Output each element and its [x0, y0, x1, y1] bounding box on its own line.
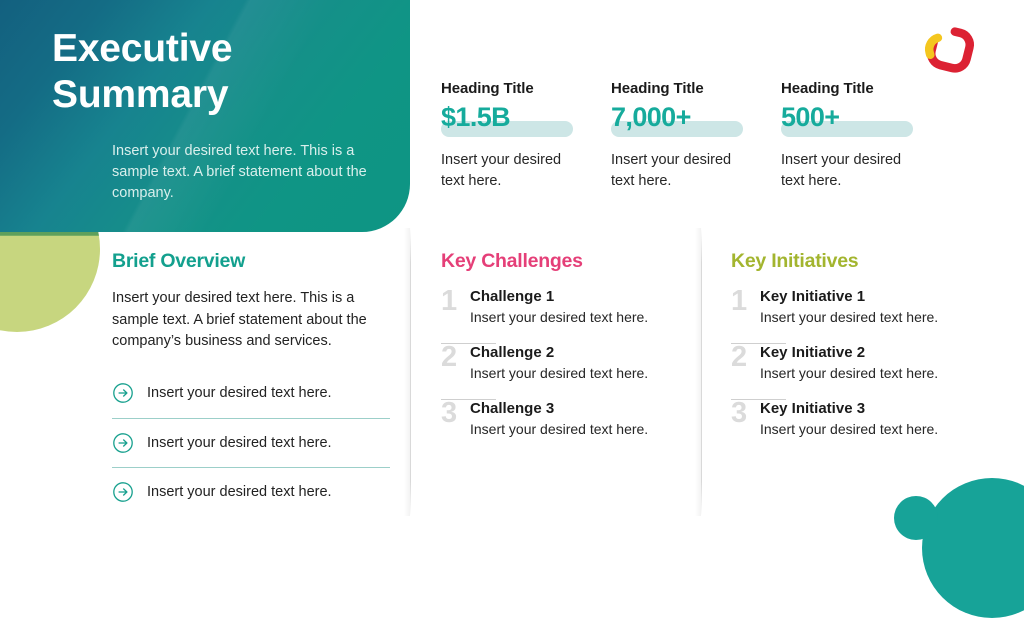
list-item-title: Challenge 3 [470, 400, 648, 418]
list-item-number: 3 [441, 400, 459, 426]
metric-card: Heading Title 7,000+ Insert your desired… [611, 80, 781, 192]
metric-value-wrapper: $1.5B [441, 102, 611, 138]
metric-value: $1.5B [441, 102, 510, 133]
section-key-challenges: Key Challenges 1 Challenge 1 Insert your… [441, 250, 693, 455]
arrow-circle-icon [112, 481, 134, 503]
list-item-number: 2 [441, 344, 459, 370]
metric-card: Heading Title $1.5B Insert your desired … [441, 80, 611, 192]
column-divider [695, 228, 709, 516]
list-item-description: Insert your desired text here. [470, 308, 648, 327]
page-title-line1: Executive [52, 26, 232, 72]
list-item[interactable]: Insert your desired text here. [112, 369, 390, 418]
list-item[interactable]: 3 Key Initiative 3 Insert your desired t… [731, 400, 983, 455]
metric-value-wrapper: 7,000+ [611, 102, 781, 138]
initiatives-list: 1 Key Initiative 1 Insert your desired t… [731, 288, 983, 455]
section-title-overview: Brief Overview [112, 250, 394, 273]
metric-description: Insert your desired text here. [441, 150, 571, 192]
list-item-title: Challenge 1 [470, 288, 648, 306]
arrow-circle-icon [112, 432, 134, 454]
arrow-circle-icon [112, 382, 134, 404]
metric-value: 7,000+ [611, 102, 691, 133]
list-item-description: Insert your desired text here. [760, 364, 938, 383]
list-item[interactable]: 1 Key Initiative 1 Insert your desired t… [731, 288, 983, 343]
page-title: Executive Summary [52, 26, 232, 118]
list-item-title: Challenge 2 [470, 344, 648, 362]
list-item[interactable]: Insert your desired text here. [112, 467, 390, 516]
list-item-title: Key Initiative 2 [760, 344, 938, 362]
list-item[interactable]: Insert your desired text here. [112, 418, 390, 467]
list-item-number: 1 [731, 288, 749, 314]
metric-value-wrapper: 500+ [781, 102, 951, 138]
section-key-initiatives: Key Initiatives 1 Key Initiative 1 Inser… [731, 250, 983, 455]
list-item-description: Insert your desired text here. [760, 420, 938, 439]
list-item-number: 1 [441, 288, 459, 314]
list-item-title: Key Initiative 1 [760, 288, 938, 306]
metric-heading: Heading Title [781, 80, 951, 97]
list-item-label: Insert your desired text here. [147, 435, 332, 451]
page-subtitle: Insert your desired text here. This is a… [112, 141, 384, 204]
brand-logo-icon [921, 22, 979, 80]
metric-description: Insert your desired text here. [611, 150, 741, 192]
challenges-list: 1 Challenge 1 Insert your desired text h… [441, 288, 693, 455]
metrics-row: Heading Title $1.5B Insert your desired … [441, 80, 981, 192]
list-item-title: Key Initiative 3 [760, 400, 938, 418]
metric-heading: Heading Title [441, 80, 611, 97]
list-item-number: 3 [731, 400, 749, 426]
list-item[interactable]: 2 Key Initiative 2 Insert your desired t… [731, 344, 983, 399]
header-panel: Executive Summary Insert your desired te… [0, 0, 410, 232]
list-item-number: 2 [731, 344, 749, 370]
metric-heading: Heading Title [611, 80, 781, 97]
list-item-description: Insert your desired text here. [760, 308, 938, 327]
section-title-initiatives: Key Initiatives [731, 250, 983, 273]
list-item-label: Insert your desired text here. [147, 385, 332, 401]
overview-bullet-list: Insert your desired text here. Insert yo… [112, 369, 390, 516]
list-item[interactable]: 2 Challenge 2 Insert your desired text h… [441, 344, 693, 399]
decorative-circle-teal-small [894, 496, 938, 540]
page-title-line2: Summary [52, 72, 232, 118]
list-item-description: Insert your desired text here. [470, 420, 648, 439]
decorative-circle-teal-large [922, 478, 1024, 618]
metric-description: Insert your desired text here. [781, 150, 911, 192]
column-divider [404, 228, 418, 516]
overview-body-text: Insert your desired text here. This is a… [112, 288, 380, 353]
section-title-challenges: Key Challenges [441, 250, 693, 273]
metric-value: 500+ [781, 102, 839, 133]
list-item[interactable]: 1 Challenge 1 Insert your desired text h… [441, 288, 693, 343]
list-item-description: Insert your desired text here. [470, 364, 648, 383]
section-brief-overview: Brief Overview Insert your desired text … [112, 250, 394, 516]
list-item-label: Insert your desired text here. [147, 484, 332, 500]
list-item[interactable]: 3 Challenge 3 Insert your desired text h… [441, 400, 693, 455]
metric-card: Heading Title 500+ Insert your desired t… [781, 80, 951, 192]
